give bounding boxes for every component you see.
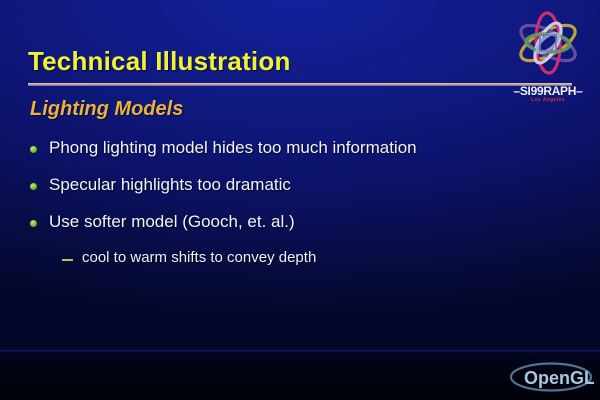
siggraph-name: SI99RAPH [520,84,576,98]
opengl-trademark: . [586,375,589,387]
opengl-logo: OpenGL . [508,360,594,394]
list-item: Use softer model (Gooch, et. al.) [30,211,550,234]
siggraph-wordmark: –SI99RAPH– [500,84,596,98]
slide-title: Technical Illustration [28,46,291,77]
opengl-wordmark: OpenGL [524,368,594,388]
title-divider [28,83,572,86]
slide-subtitle: Lighting Models [30,98,183,121]
siggraph-logo: –SI99RAPH– Los Angeles [500,8,596,104]
bullet-dot-icon [30,183,37,190]
bullet-dot-icon [30,146,37,153]
list-item: Specular highlights too dramatic [30,174,550,197]
sub-bullet-text: cool to warm shifts to convey depth [82,248,316,268]
bullet-dot-icon [30,220,37,227]
presentation-slide: Technical Illustration Lighting Models P… [0,0,600,400]
sub-list-item: cool to warm shifts to convey depth [62,248,550,268]
dash-bullet-icon [62,259,73,261]
siggraph-dash-right: – [576,84,582,98]
siggraph-rings-icon [500,8,596,78]
list-item: Phong lighting model hides too much info… [30,137,550,160]
bullet-text: Use softer model (Gooch, et. al.) [49,211,295,234]
siggraph-city: Los Angeles [500,97,596,103]
bullet-text: Phong lighting model hides too much info… [49,137,417,160]
opengl-ellipse-icon: OpenGL . [508,360,594,394]
bullet-list: Phong lighting model hides too much info… [30,137,550,268]
bullet-text: Specular highlights too dramatic [49,174,291,197]
